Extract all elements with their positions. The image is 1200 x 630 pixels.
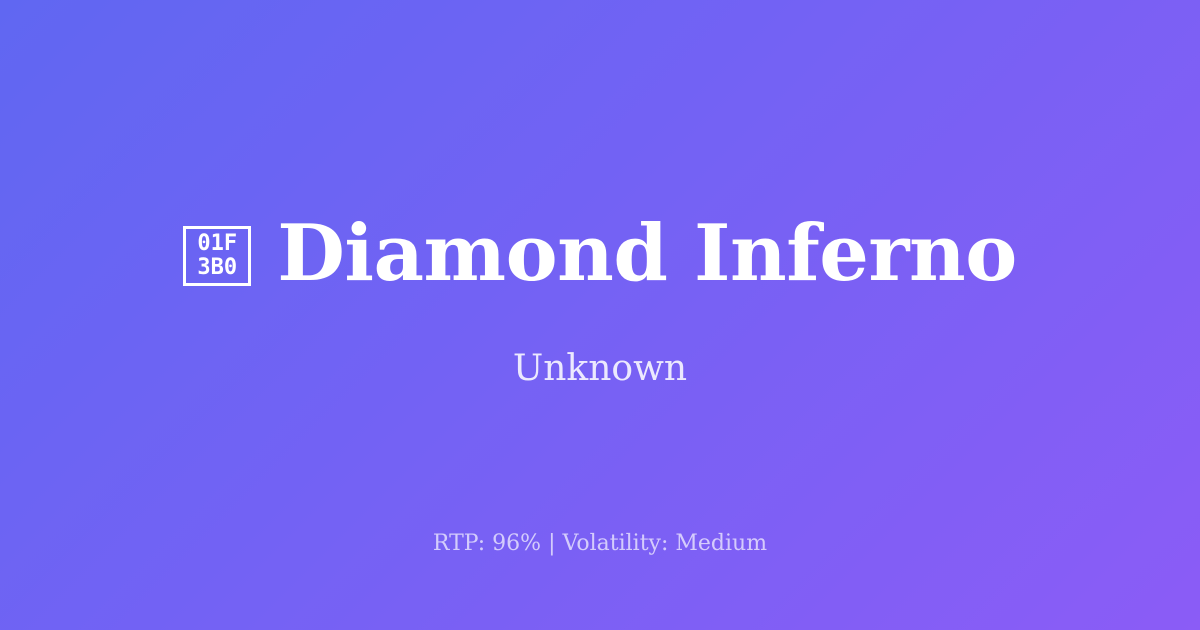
slot-machine-icon-codepoint-low: 3B0 xyxy=(197,256,237,280)
game-stats-line: RTP: 96% | Volatility: Medium xyxy=(0,531,1200,557)
slot-machine-icon: 01F 3B0 xyxy=(183,226,251,286)
slot-machine-icon-codepoint-high: 01F xyxy=(197,232,237,256)
provider-subtitle: Unknown xyxy=(513,347,687,390)
page-title: Diamond Inferno xyxy=(277,213,1016,295)
game-banner-card: 01F 3B0 Diamond Inferno Unknown RTP: 96%… xyxy=(0,0,1200,630)
title-row: 01F 3B0 Diamond Inferno xyxy=(183,213,1016,295)
